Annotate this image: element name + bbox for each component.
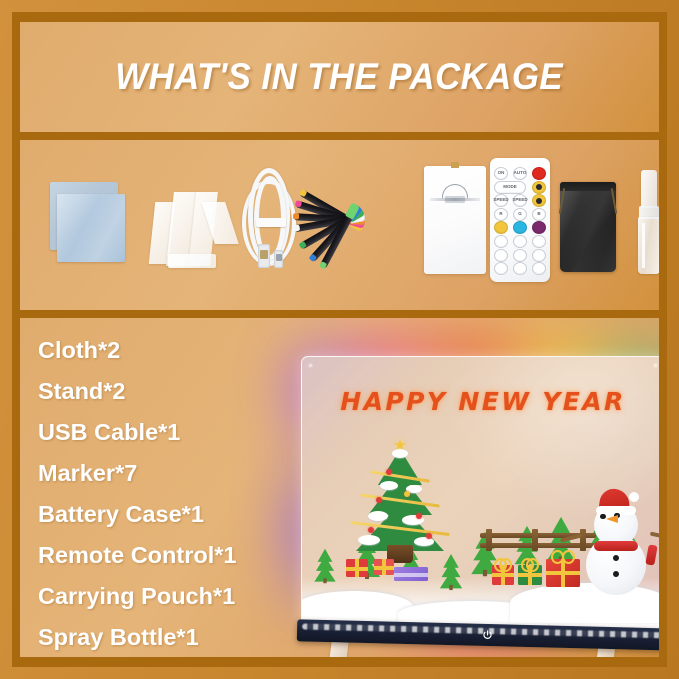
remote-button[interactable]: MODE <box>494 181 526 194</box>
remote-button-row: ONAUTO <box>494 167 546 180</box>
remote-button[interactable]: R <box>494 208 508 221</box>
remote-button[interactable]: B <box>532 208 546 221</box>
marker-pen-icon <box>292 178 424 270</box>
remote-button-label: SPEED <box>495 195 507 206</box>
remote-button[interactable]: G <box>513 208 527 221</box>
remote-button[interactable]: AUTO <box>513 167 527 180</box>
gift-box-icon <box>346 559 368 577</box>
remote-button[interactable] <box>494 235 508 248</box>
list-item: Remote Control*1 <box>38 535 236 576</box>
contents-photo-panel: ONAUTOMODESPEEDSPEEDRGB <box>20 140 659 310</box>
remote-button[interactable] <box>513 249 527 262</box>
remote-button-row <box>494 235 546 248</box>
acrylic-stand-icon <box>146 176 236 274</box>
microfiber-cloth-icon <box>48 182 132 268</box>
led-writing-board: HAPPY NEW YEAR <box>275 318 659 657</box>
remote-button[interactable] <box>494 262 508 275</box>
remote-button[interactable] <box>532 262 546 275</box>
board-surface: HAPPY NEW YEAR <box>301 356 659 630</box>
list-item: Carrying Pouch*1 <box>38 576 236 617</box>
page-title-text: WHAT'S IN THE PACKAGE <box>116 56 564 98</box>
pine-tree-icon <box>314 549 335 583</box>
list-item: Cloth*2 <box>38 330 236 371</box>
remote-button[interactable]: ON <box>494 167 508 180</box>
remote-button-label: B <box>533 209 545 220</box>
battery-case-icon <box>424 166 486 274</box>
drawstring-pouch-icon <box>560 170 616 272</box>
list-item: Battery Case*1 <box>38 494 236 535</box>
remote-button[interactable] <box>513 262 527 275</box>
remote-button-row: MODE <box>494 181 546 194</box>
remote-control-icon: ONAUTOMODESPEEDSPEEDRGB <box>490 158 550 282</box>
remote-button-label: SPEED <box>514 195 526 206</box>
remote-button-label: AUTO <box>514 168 526 179</box>
board-message: HAPPY NEW YEAR <box>302 387 659 416</box>
remote-button-row <box>494 262 546 275</box>
remote-button[interactable]: SPEED <box>513 194 527 207</box>
gift-box-icon <box>492 565 514 585</box>
list-item: Spray Bottle*1 <box>38 617 236 657</box>
remote-button[interactable] <box>513 221 527 234</box>
spray-bottle-icon <box>632 170 659 274</box>
remote-button[interactable] <box>532 181 546 194</box>
remote-button[interactable]: SPEED <box>494 194 508 207</box>
list-item: USB Cable*1 <box>38 412 236 453</box>
remote-button[interactable] <box>513 235 527 248</box>
title-panel: WHAT'S IN THE PACKAGE <box>20 22 659 132</box>
remote-button[interactable] <box>532 235 546 248</box>
list-item: Marker*7 <box>38 453 236 494</box>
remote-button[interactable] <box>494 221 508 234</box>
remote-button-label: ON <box>495 168 507 179</box>
remote-button-row: SPEEDSPEED <box>494 194 546 207</box>
gift-box-icon <box>374 559 394 575</box>
christmas-tree-icon: ★ <box>340 441 460 569</box>
remote-button-label: G <box>514 209 526 220</box>
remote-button-row: RGB <box>494 208 546 221</box>
remote-button[interactable] <box>532 194 546 207</box>
remote-button[interactable] <box>532 221 546 234</box>
remote-button-label: R <box>495 209 507 220</box>
package-list: Cloth*2Stand*2USB Cable*1Marker*7Battery… <box>38 330 236 657</box>
gift-box-icon <box>518 565 542 585</box>
page-title: WHAT'S IN THE PACKAGE <box>20 56 659 98</box>
package-list-panel: HAPPY NEW YEAR <box>20 318 659 657</box>
power-icon[interactable] <box>480 628 493 641</box>
remote-button-row <box>494 221 546 234</box>
remote-button-row <box>494 249 546 262</box>
snowman-icon <box>574 477 658 595</box>
remote-button[interactable] <box>532 249 546 262</box>
package-contents-infographic: WHAT'S IN THE PACKAGE <box>0 0 679 679</box>
gift-box-icon <box>394 567 428 581</box>
remote-button-label: MODE <box>495 182 525 193</box>
remote-button[interactable] <box>494 249 508 262</box>
list-item: Stand*2 <box>38 371 236 412</box>
remote-button[interactable] <box>532 167 546 180</box>
